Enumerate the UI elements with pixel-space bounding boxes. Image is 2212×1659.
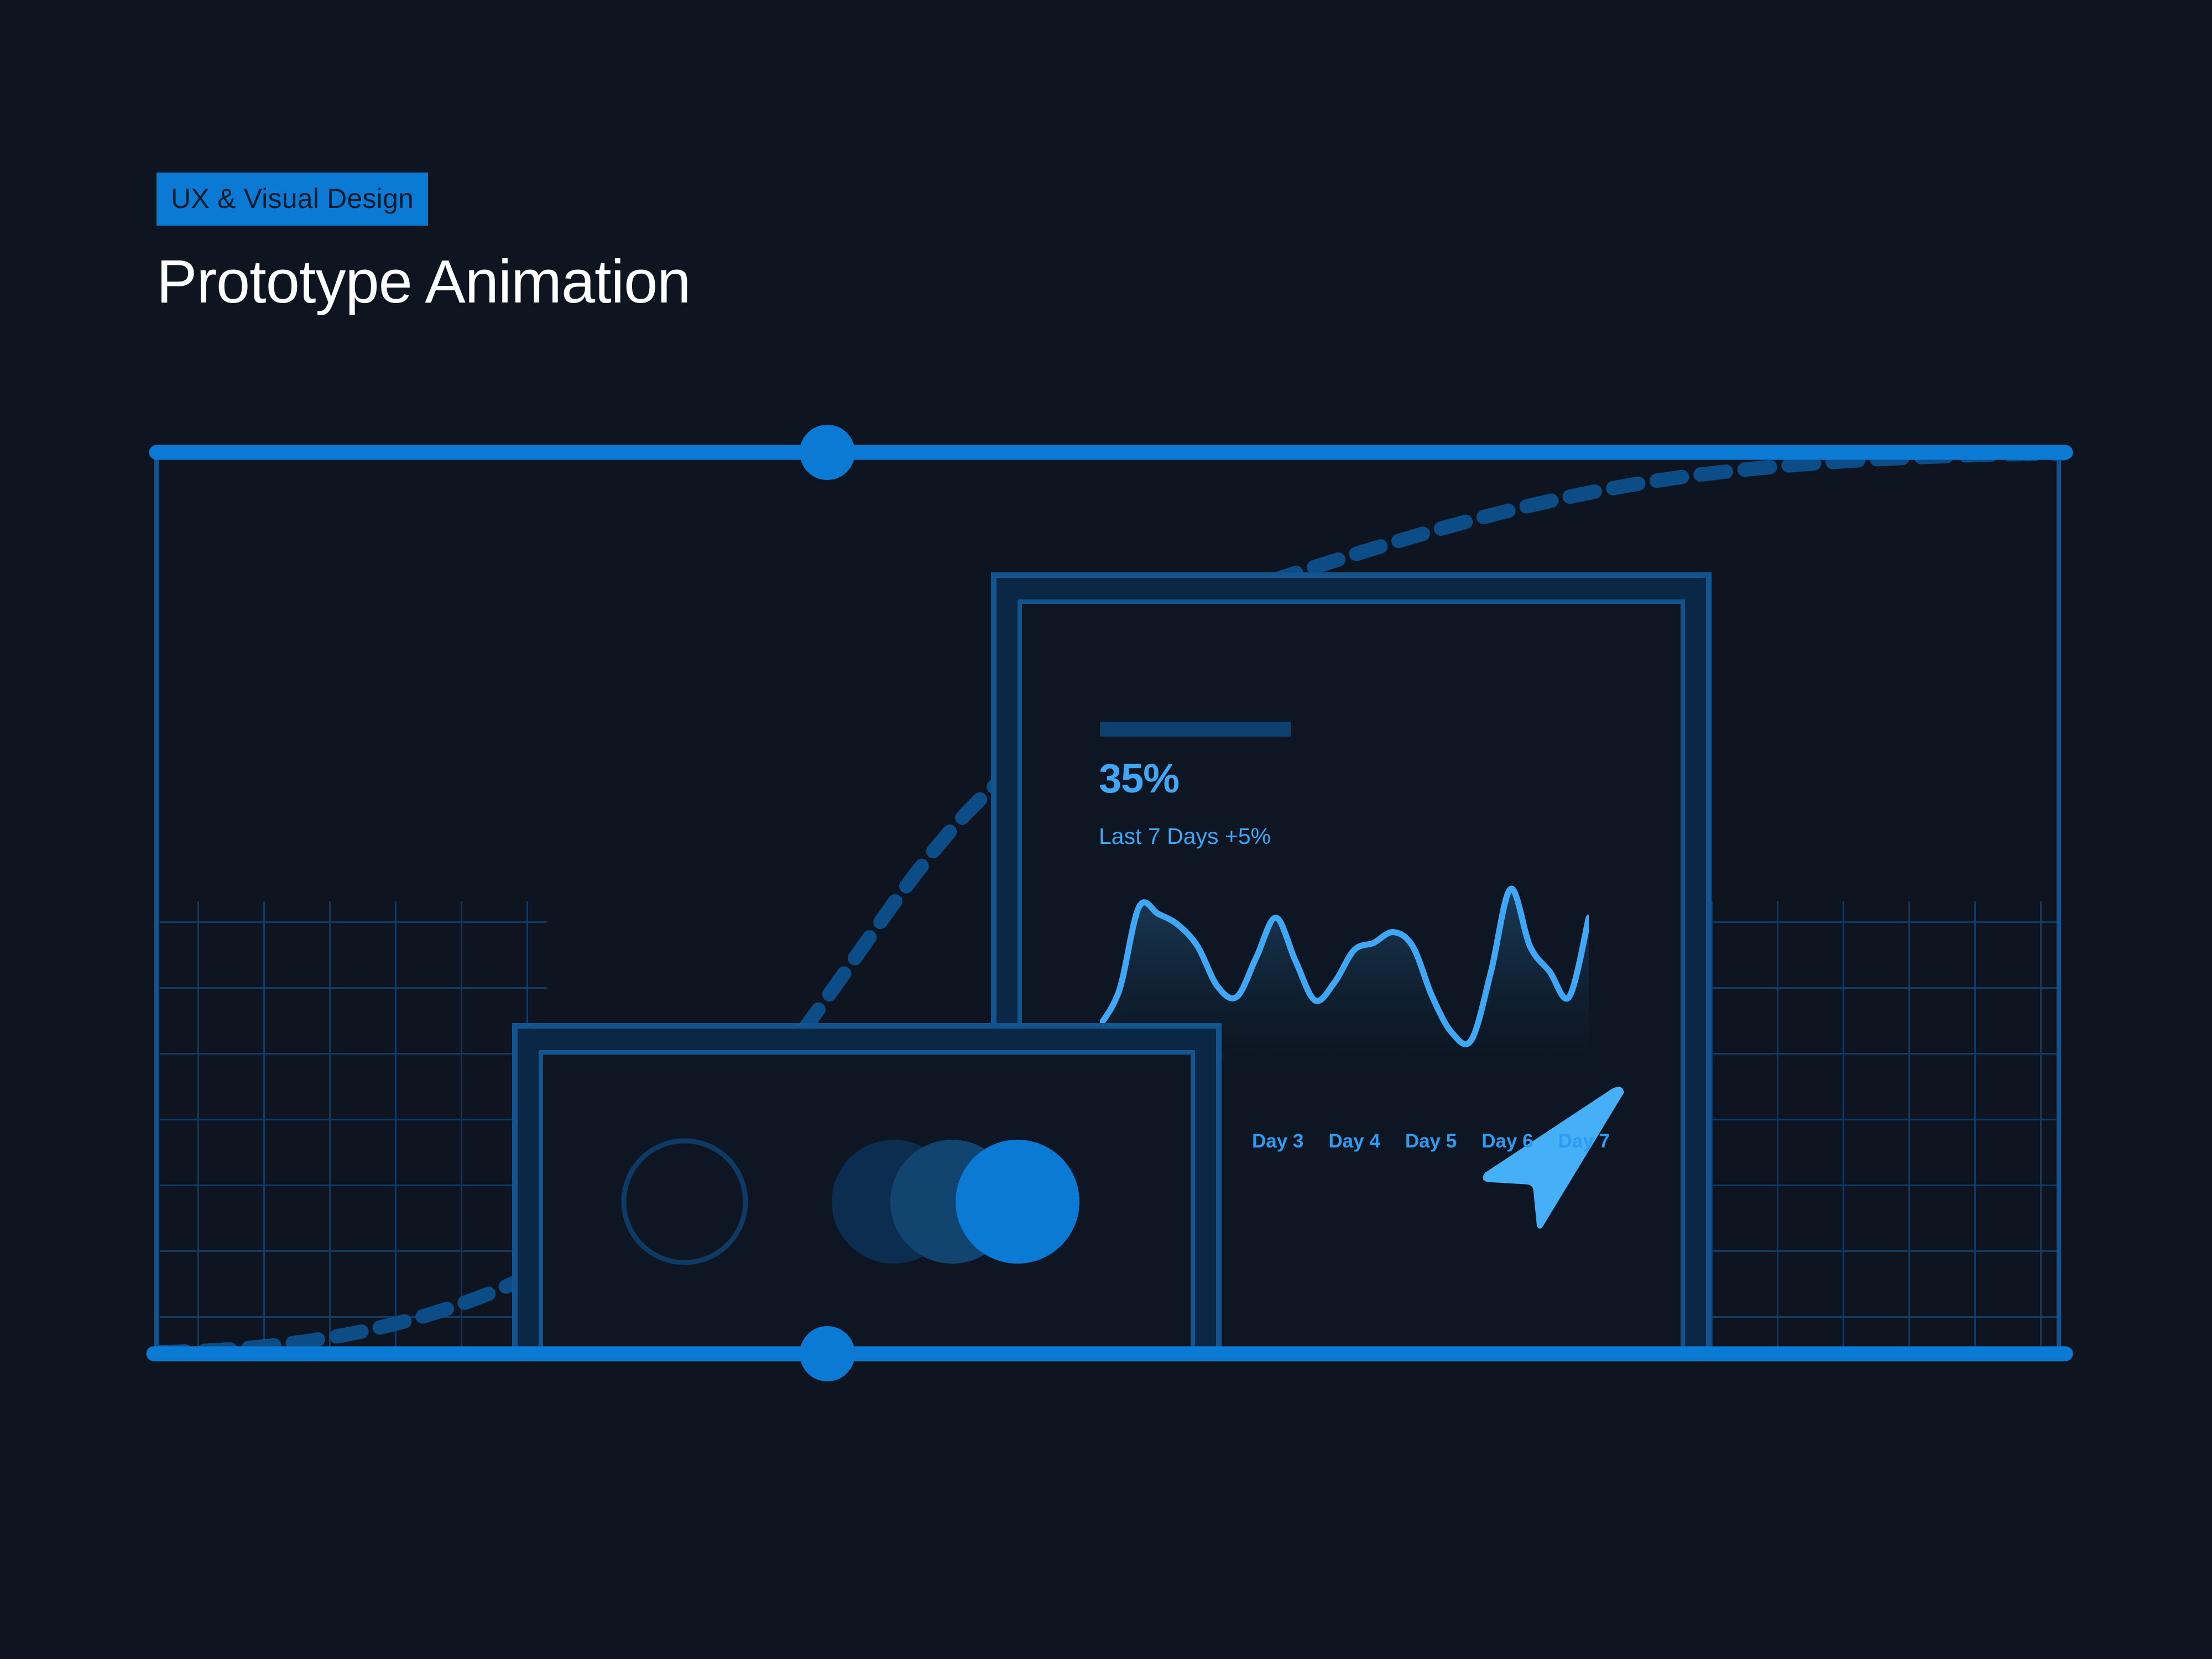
axis-label-day7: Day 7 <box>1558 1131 1610 1151</box>
dot-3[interactable] <box>956 1140 1079 1264</box>
slider-bottom-handle[interactable] <box>800 1326 855 1381</box>
carousel-card[interactable] <box>515 1026 1219 1351</box>
axis-label-day4: Day 4 <box>1328 1131 1380 1151</box>
kpi-value: 35% <box>1099 758 1179 799</box>
slider-top[interactable] <box>156 425 2065 480</box>
kpi-placeholder-bar <box>1100 722 1291 737</box>
axis-label-day5: Day 5 <box>1405 1131 1457 1151</box>
slider-top-handle[interactable] <box>800 425 855 480</box>
chart-axis-labels: Day 3 Day 4 Day 5 Day 6 Day 7 <box>1252 1131 1610 1151</box>
axis-label-day3: Day 3 <box>1252 1131 1303 1151</box>
kpi-subtitle: Last 7 Days +5% <box>1099 825 1271 848</box>
slide-canvas: UX & Visual Design Prototype Animation <box>0 0 2212 1659</box>
axis-label-day6: Day 6 <box>1481 1131 1533 1151</box>
